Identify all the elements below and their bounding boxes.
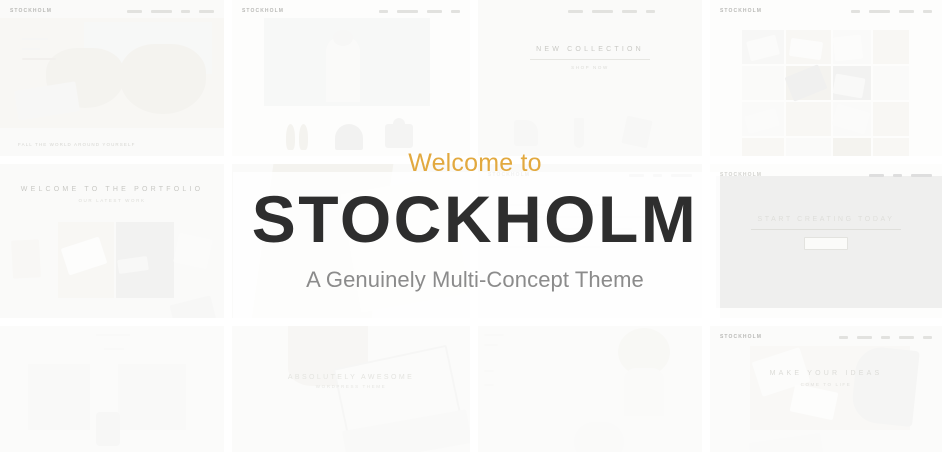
mosaic-tile-nav: STOCKHOLM: [478, 4, 702, 18]
mosaic-tile-menu: [839, 336, 932, 339]
mosaic-tile-subhead: COME TO LIFE: [801, 382, 852, 387]
hero-banner: STOCKHOLM FALL THE WORLD AROUND YOURSELF…: [0, 0, 950, 460]
hero-title: STOCKHOLM: [0, 183, 950, 257]
mosaic-tile-menu: [127, 10, 214, 13]
mosaic-tile-headline: ABSOLUTELY AWESOME: [288, 374, 414, 381]
mosaic-tile-nav: STOCKHOLM: [710, 4, 942, 18]
mosaic-tile-stationery-portfolio: STOCKHOLM: [710, 0, 950, 164]
mosaic-tile-person-profile: [478, 326, 710, 460]
mosaic-tile-logo: STOCKHOLM: [242, 8, 284, 14]
mosaic-tile-headline: FALL THE WORLD AROUND YOURSELF: [18, 142, 135, 147]
mosaic-tile-headline: NEW COLLECTION: [536, 46, 644, 53]
mosaic-tile-logo: STOCKHOLM: [720, 334, 762, 340]
mosaic-tile-menu: [568, 10, 655, 13]
mosaic-tile-headline: MAKE YOUR IDEAS: [770, 370, 883, 377]
mosaic-tile-menu: [851, 10, 932, 13]
mosaic-tile-fashion-bags: STOCKHOLM FALL THE WORLD AROUND YOURSELF: [0, 0, 232, 164]
mosaic-tile-nav: STOCKHOLM: [232, 4, 470, 18]
mosaic-tile-nav: STOCKHOLM: [0, 4, 224, 18]
mosaic-tile-nav: STOCKHOLM: [710, 330, 942, 344]
mosaic-tile-shop-lookbook: STOCKHOLM: [232, 0, 478, 164]
mosaic-tile-logo: STOCKHOLM: [720, 8, 762, 14]
mosaic-tile-subhead: WORDPRESS THEME: [316, 384, 386, 389]
hero-eyebrow: Welcome to: [0, 148, 950, 179]
mosaic-tile-agency-hero: STOCKHOLM MAKE YOUR IDEAS COME TO LIFE: [710, 326, 950, 460]
mosaic-tile-laptop-wordpress: ABSOLUTELY AWESOME WORDPRESS THEME: [232, 326, 478, 460]
mosaic-tile-logo: STOCKHOLM: [10, 8, 52, 14]
mosaic-tile-menu: [379, 10, 460, 13]
hero-subtitle: A Genuinely Multi-Concept Theme: [0, 267, 950, 293]
mosaic-tile-subhead: SHOP NOW: [571, 65, 609, 70]
mosaic-tile-interior-gallery: [0, 326, 232, 460]
mosaic-tile-new-collection: STOCKHOLM NEW COLLECTION SHOP NOW: [478, 0, 710, 164]
hero-text-block: Welcome to STOCKHOLM A Genuinely Multi-C…: [0, 148, 950, 293]
